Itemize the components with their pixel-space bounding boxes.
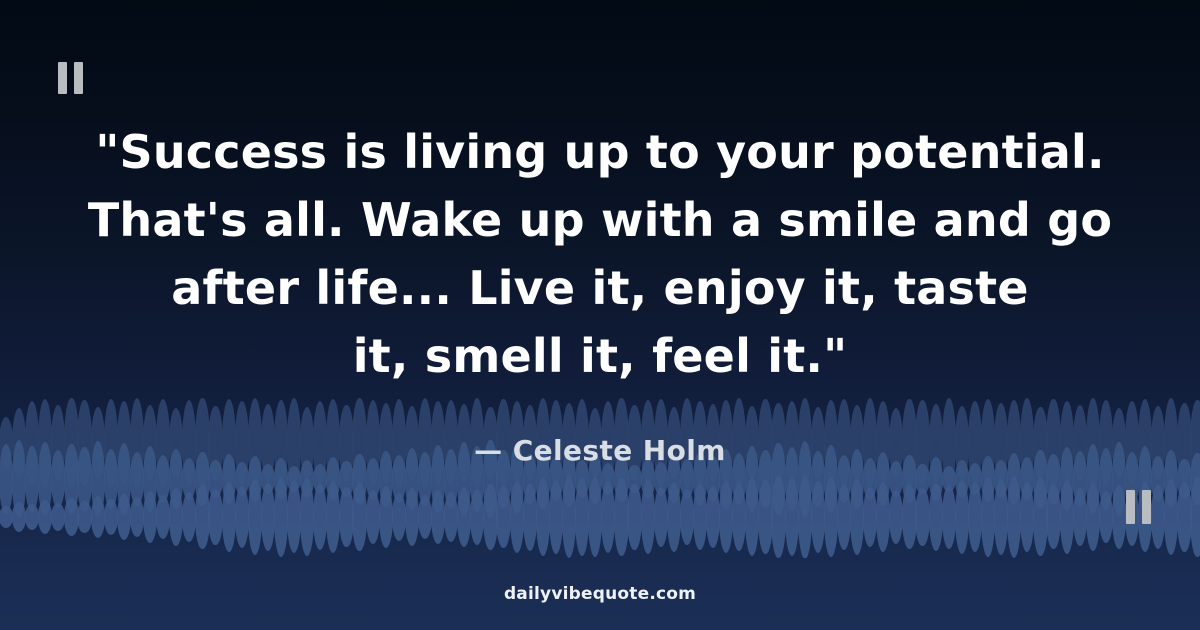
wave-blob [798, 475, 812, 558]
wave-blob [1164, 479, 1178, 555]
wave-blob [824, 477, 838, 557]
wave-blob [431, 490, 445, 544]
wave-blob [785, 478, 799, 556]
wave-blob [719, 481, 733, 553]
wave-blob [968, 482, 982, 552]
wave-blob [38, 500, 52, 534]
wave-blob [771, 476, 785, 558]
quote-open-icon [58, 62, 83, 94]
wave-blob [942, 485, 956, 549]
wave-blob [994, 479, 1008, 555]
wave-blob [418, 495, 432, 539]
wave-blob [758, 480, 772, 554]
wave-blob [496, 486, 510, 548]
wave-blob [601, 481, 615, 553]
wave-blob [143, 491, 157, 543]
wave-blob [1151, 485, 1165, 549]
wave-blob [248, 479, 262, 555]
wave-blob [1046, 485, 1060, 549]
wave-blob [955, 480, 969, 554]
wave-blob [706, 486, 720, 548]
wave-blob [366, 490, 380, 544]
wave-blob [654, 487, 668, 547]
wave-blob [588, 477, 602, 557]
wave-blob [981, 477, 995, 557]
wave-blob [876, 482, 890, 552]
wave-blob [510, 481, 524, 553]
wave-blob [457, 487, 471, 547]
wave-blob [929, 483, 943, 551]
wave-blob [627, 484, 641, 550]
wave-blob [470, 489, 484, 545]
wave-blob [208, 489, 222, 545]
wave-blob [915, 488, 929, 546]
quote-text: "Success is living up to your potential.… [0, 118, 1200, 390]
wave-blob [837, 484, 851, 550]
quote-open-bar-left [58, 62, 67, 94]
site-url: dailyvibequote.com [504, 584, 696, 604]
wave-blob [811, 481, 825, 553]
wave-blob [1033, 478, 1047, 556]
wave-blob [444, 492, 458, 542]
wave-blob [379, 486, 393, 548]
wave-blob [863, 487, 877, 547]
wave-blob [1060, 480, 1074, 554]
quote-close-icon [1126, 490, 1151, 524]
wave-blob [680, 489, 694, 545]
wave-blob [405, 488, 419, 546]
wave-blob [483, 484, 497, 550]
wave-blob [536, 478, 550, 556]
wave-blob [693, 484, 707, 550]
wave-blob [195, 485, 209, 549]
wave-blob [889, 490, 903, 544]
wave-blob [261, 483, 275, 551]
wave-blob [614, 478, 628, 556]
wave-blob [549, 480, 563, 554]
wave-blob [1190, 477, 1200, 557]
wave-blob [1177, 482, 1191, 552]
wave-blob [313, 484, 327, 550]
quote-open-bar-right [74, 62, 83, 94]
wave-blob [1073, 488, 1087, 546]
wave-blob [64, 498, 78, 536]
wave-blob [902, 485, 916, 549]
wave-blob [91, 496, 105, 538]
wave-blob [104, 499, 118, 535]
wave-blob [1112, 485, 1126, 549]
wave-blob [1020, 482, 1034, 552]
wave-blob [850, 479, 864, 555]
wave-blob [745, 478, 759, 556]
wave-blob [732, 483, 746, 551]
wave-blob [235, 486, 249, 548]
wave-blob [1099, 491, 1113, 543]
quote-close-bar-right [1142, 490, 1151, 524]
wave-blob [300, 478, 314, 556]
wave-blob [274, 477, 288, 557]
wave-blob [667, 482, 681, 552]
wave-blob [117, 494, 131, 540]
wave-blob [562, 476, 576, 558]
wave-blob [523, 483, 537, 551]
wave-blob [51, 503, 65, 531]
wave-blob [130, 497, 144, 537]
soundwave-decoration [0, 398, 1200, 558]
wave-blob [12, 502, 26, 532]
wave-blob [169, 488, 183, 546]
wave-blob [287, 481, 301, 553]
wave-blob [77, 501, 91, 533]
footer: dailyvibequote.com [0, 558, 1200, 630]
wave-blob [392, 493, 406, 541]
wave-blob [339, 487, 353, 547]
wave-blob [575, 478, 589, 556]
wave-blob [25, 504, 39, 530]
wave-blob [1086, 483, 1100, 551]
wave-row-bottom [0, 476, 1200, 558]
quote-attribution: — Celeste Holm [0, 434, 1200, 467]
wave-blob [182, 492, 196, 542]
wave-blob [1007, 476, 1021, 558]
wave-blob [641, 480, 655, 554]
wave-blob [352, 483, 366, 551]
wave-blob [222, 482, 236, 552]
wave-blob [156, 495, 170, 539]
wave-blob [326, 481, 340, 553]
quote-card: "Success is living up to your potential.… [0, 0, 1200, 630]
quote-close-bar-left [1126, 490, 1135, 524]
